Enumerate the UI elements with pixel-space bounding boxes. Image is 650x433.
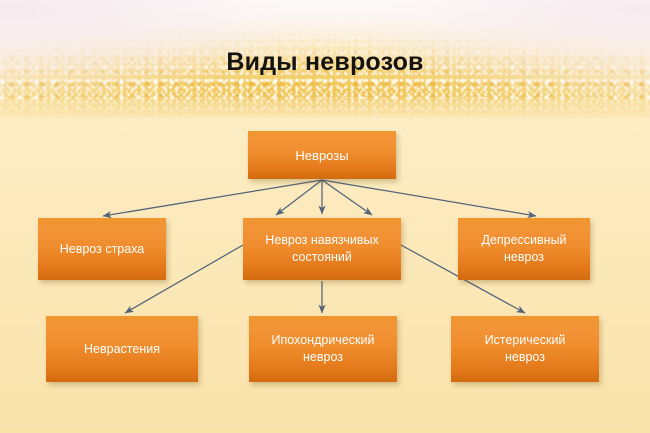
connector-root-to-obsessive-left (276, 180, 322, 215)
node-fear-neurosis[interactable]: Невроз страха (38, 218, 166, 280)
node-depressive-neurosis-line1: Депрессивный (481, 232, 566, 249)
node-depressive-neurosis-text: Депрессивный невроз (481, 232, 566, 266)
node-hypochondriac-neurosis[interactable]: Ипохондрический невроз (249, 316, 397, 382)
connector-root-to-depressive (322, 180, 536, 216)
page-title: Виды неврозов (0, 48, 650, 77)
node-hysterical-neurosis-line1: Истерический (485, 332, 566, 349)
node-fear-neurosis-label: Невроз страха (60, 241, 145, 258)
node-neurasthenia-label: Неврастения (84, 341, 160, 358)
slide-canvas: Виды неврозов Неврозы Невроз страха Невр… (0, 0, 650, 433)
node-neuroses-label: Неврозы (295, 147, 348, 164)
node-obsessive-neurosis-text: Невроз навязчивых состояний (265, 232, 378, 266)
node-obsessive-neurosis-line1: Невроз навязчивых (265, 232, 378, 249)
node-hypochondriac-neurosis-text: Ипохондрический невроз (272, 332, 375, 366)
connector-root-to-obsessive-right (322, 180, 372, 215)
node-hysterical-neurosis[interactable]: Истерический невроз (451, 316, 599, 382)
node-hypochondriac-neurosis-line2: невроз (272, 349, 375, 366)
node-neuroses[interactable]: Неврозы (248, 131, 396, 179)
node-obsessive-neurosis-line2: состояний (265, 249, 378, 266)
connector-root-to-fear (103, 180, 322, 216)
node-neurasthenia[interactable]: Неврастения (46, 316, 198, 382)
node-obsessive-neurosis[interactable]: Невроз навязчивых состояний (243, 218, 401, 280)
node-hysterical-neurosis-text: Истерический невроз (485, 332, 566, 366)
node-depressive-neurosis[interactable]: Депрессивный невроз (458, 218, 590, 280)
node-hypochondriac-neurosis-line1: Ипохондрический (272, 332, 375, 349)
node-depressive-neurosis-line2: невроз (481, 249, 566, 266)
node-hysterical-neurosis-line2: невроз (485, 349, 566, 366)
